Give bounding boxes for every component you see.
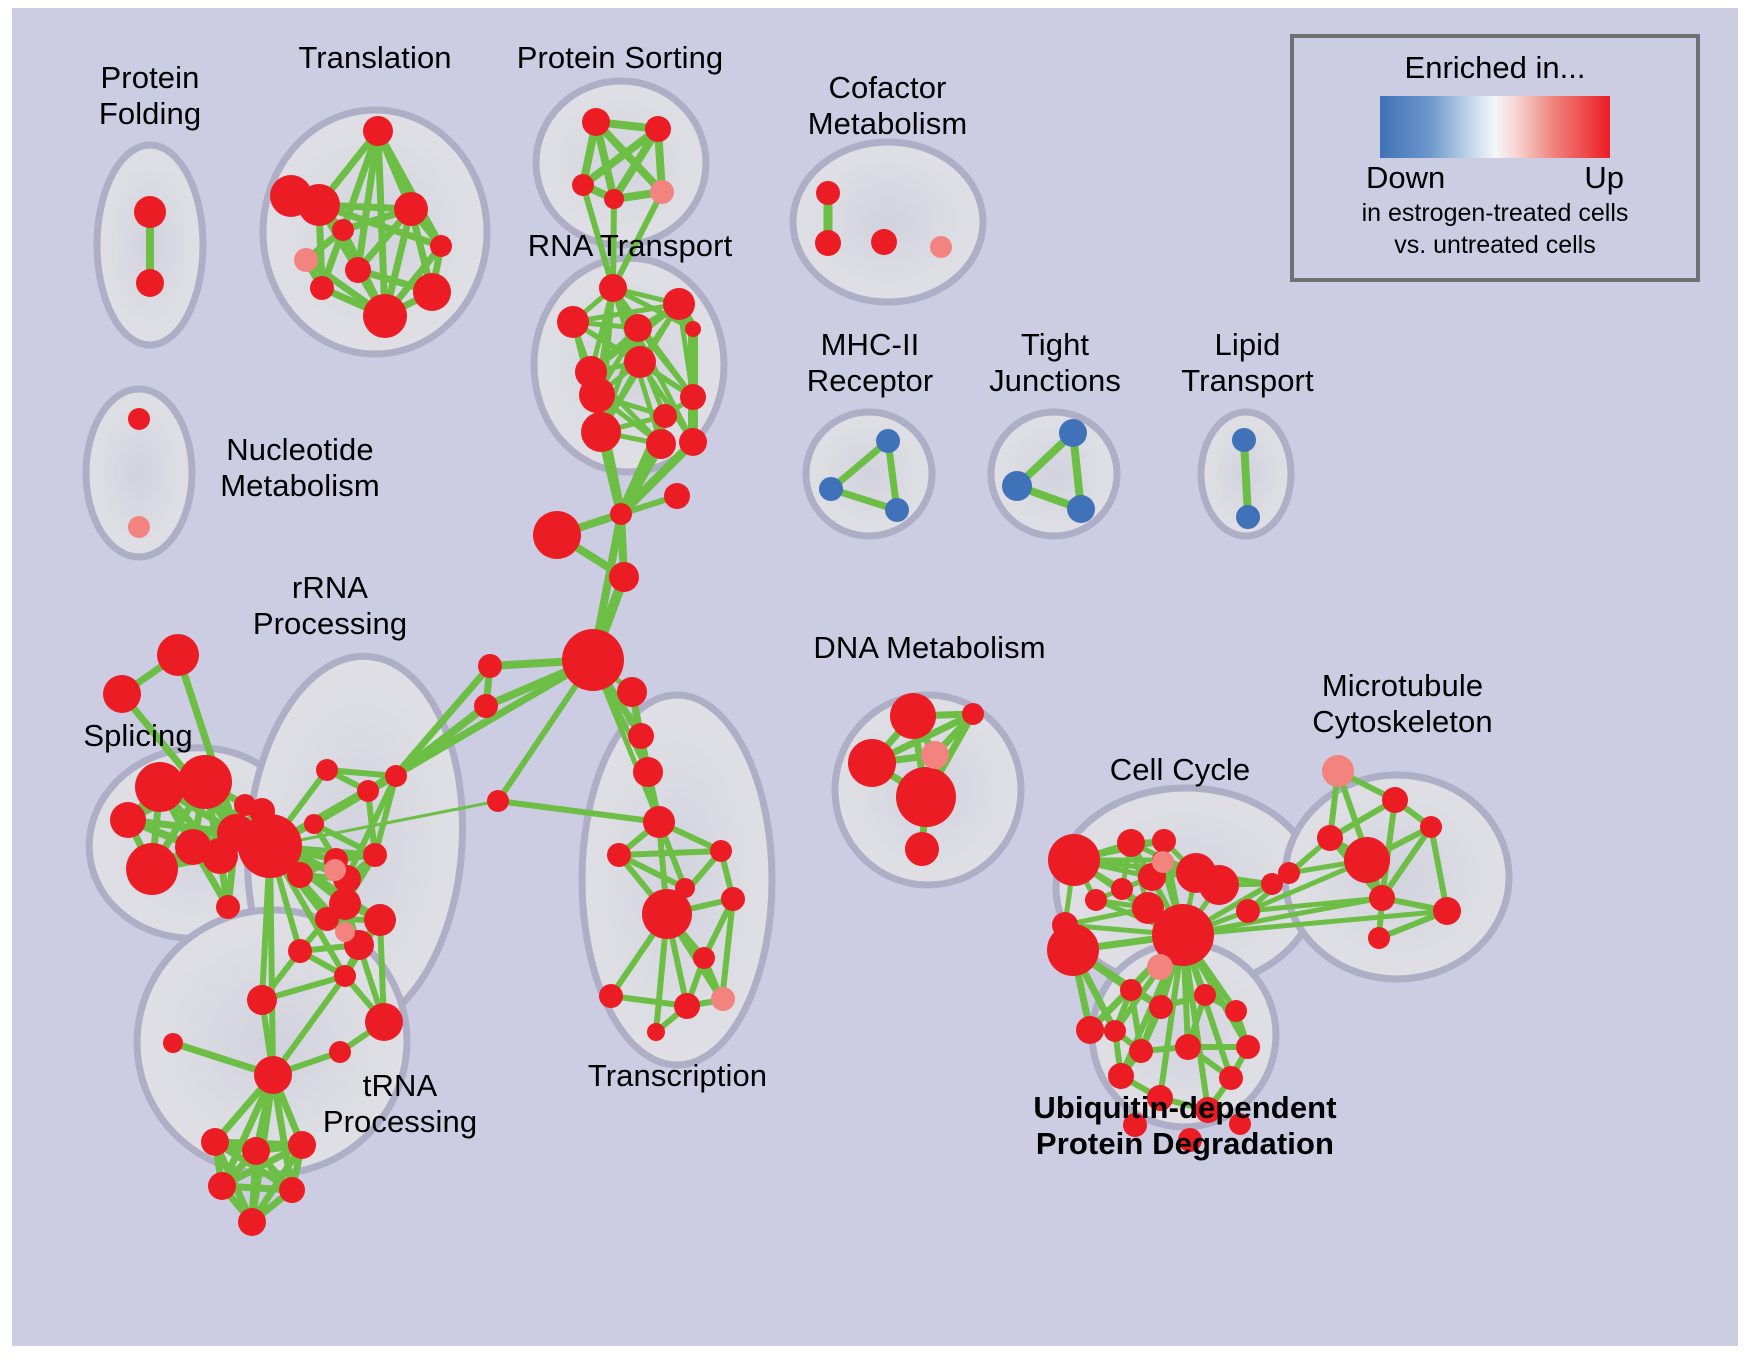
node	[664, 483, 690, 509]
node	[710, 840, 732, 862]
cluster-label-protein-folding: Protein Folding	[75, 60, 225, 132]
cluster-label-dna-metabolism: DNA Metabolism	[812, 630, 1047, 666]
node	[896, 767, 956, 827]
node	[642, 889, 692, 939]
node	[1152, 829, 1176, 853]
legend-endpoints: Down Up	[1366, 160, 1624, 196]
node	[711, 987, 735, 1011]
node	[1147, 954, 1173, 980]
node	[1002, 471, 1032, 501]
node	[609, 562, 639, 592]
node	[557, 306, 589, 338]
ellipse-cofactor-metabolism	[793, 142, 983, 302]
legend-color-gradient	[1380, 96, 1610, 158]
node	[335, 922, 355, 942]
node	[394, 192, 428, 226]
node	[624, 346, 656, 378]
node	[617, 677, 647, 707]
node	[329, 888, 361, 920]
node	[430, 235, 452, 257]
cluster-label-transcription: Transcription	[570, 1058, 785, 1094]
legend-title: Enriched in...	[1405, 50, 1586, 86]
node	[819, 477, 843, 501]
node	[1129, 1039, 1153, 1063]
node	[363, 843, 387, 867]
node	[110, 802, 146, 838]
node	[474, 694, 498, 718]
cluster-label-trna-processing: tRNA Processing	[305, 1068, 495, 1140]
node	[216, 895, 240, 919]
node	[962, 703, 984, 725]
node	[1236, 899, 1260, 923]
node	[238, 1208, 266, 1236]
node	[1085, 889, 1107, 911]
node	[1067, 495, 1095, 523]
cluster-label-cell-cycle: Cell Cycle	[1100, 752, 1260, 788]
cluster-label-rna-transport: RNA Transport	[505, 228, 755, 264]
node	[1236, 505, 1260, 529]
cluster-label-nucleotide-metabolism: Nucleotide Metabolism	[200, 432, 400, 504]
node	[685, 321, 701, 337]
node	[1152, 851, 1174, 873]
node	[357, 780, 379, 802]
node	[533, 511, 581, 559]
node	[1368, 927, 1390, 949]
cluster-label-splicing: Splicing	[58, 718, 218, 754]
cluster-label-rrna-processing: rRNA Processing	[240, 570, 420, 642]
node	[279, 1177, 305, 1203]
node	[693, 947, 715, 969]
node	[610, 503, 632, 525]
node	[487, 790, 509, 812]
legend-panel: Enriched in... Down Up in estrogen-treat…	[1290, 34, 1700, 282]
node	[646, 429, 676, 459]
node	[816, 181, 840, 205]
node	[848, 739, 896, 787]
node	[294, 248, 318, 272]
node	[633, 757, 663, 787]
node	[363, 294, 407, 338]
node	[316, 759, 338, 781]
node	[647, 1023, 665, 1041]
node	[572, 174, 594, 196]
legend-subtitle-line2: vs. untreated cells	[1394, 230, 1596, 260]
node	[1322, 755, 1354, 787]
node	[1344, 837, 1390, 883]
cluster-label-lipid-transport: Lipid Transport	[1165, 327, 1330, 399]
node	[679, 428, 707, 456]
node	[721, 887, 745, 911]
node	[332, 219, 354, 241]
ellipse-mhc-ii-receptor	[806, 412, 932, 536]
node	[208, 1172, 236, 1200]
node	[1317, 825, 1343, 851]
node	[254, 1056, 292, 1094]
node	[1047, 924, 1099, 976]
node	[624, 314, 652, 342]
node	[413, 273, 451, 311]
node	[650, 180, 674, 204]
node	[385, 765, 407, 787]
node	[1149, 995, 1173, 1019]
node	[126, 843, 178, 895]
node	[562, 629, 624, 691]
legend-down-label: Down	[1366, 160, 1445, 196]
node	[128, 516, 150, 538]
node	[238, 814, 302, 878]
cluster-label-cofactor-metabolism: Cofactor Metabolism	[780, 70, 995, 142]
legend-up-label: Up	[1584, 160, 1624, 196]
node	[178, 755, 232, 809]
node	[599, 984, 623, 1008]
node	[134, 196, 166, 228]
node	[582, 108, 610, 136]
cluster-label-translation: Translation	[275, 40, 475, 76]
node	[288, 939, 312, 963]
cluster-label-microtubule: Microtubule Cytoskeleton	[1300, 668, 1505, 740]
node	[128, 408, 150, 430]
node	[1420, 816, 1442, 838]
node	[643, 806, 675, 838]
node	[364, 904, 396, 936]
node	[1225, 1000, 1247, 1022]
node	[334, 965, 356, 987]
node	[1076, 1016, 1104, 1044]
node	[304, 814, 324, 834]
node	[242, 1137, 270, 1165]
cluster-label-mhc-ii-receptor: MHC-II Receptor	[790, 327, 950, 399]
node	[1104, 1020, 1126, 1042]
node	[581, 412, 621, 452]
node	[1433, 897, 1461, 925]
node	[1120, 979, 1142, 1001]
node	[1278, 862, 1300, 884]
cluster-label-tight-junctions: Tight Junctions	[970, 327, 1140, 399]
node	[876, 429, 900, 453]
ellipse-protein-sorting	[536, 81, 706, 245]
node	[365, 1003, 403, 1041]
node	[310, 276, 334, 300]
node	[1232, 428, 1256, 452]
node	[163, 1033, 183, 1053]
node	[363, 116, 393, 146]
node	[157, 634, 199, 676]
node	[579, 377, 615, 413]
node	[599, 274, 627, 302]
cluster-label-ubiquitin: Ubiquitin-dependent Protein Degradation	[985, 1090, 1385, 1162]
node	[604, 189, 624, 209]
legend-subtitle-line1: in estrogen-treated cells	[1362, 198, 1629, 228]
node	[628, 723, 654, 749]
node	[478, 654, 502, 678]
node	[1194, 984, 1216, 1006]
node	[329, 1041, 351, 1063]
node	[1048, 834, 1100, 886]
node	[663, 288, 695, 320]
node	[680, 384, 706, 410]
node	[135, 762, 185, 812]
node	[103, 675, 141, 713]
node	[324, 859, 346, 881]
node	[905, 832, 939, 866]
enrichment-map-figure: Protein Folding Translation Protein Sort…	[0, 0, 1750, 1360]
node	[1382, 787, 1408, 813]
node	[1117, 829, 1145, 857]
node	[1175, 1034, 1201, 1060]
node	[1236, 1035, 1260, 1059]
node	[930, 236, 952, 258]
node	[1059, 419, 1087, 447]
node	[1219, 1066, 1243, 1090]
node	[890, 693, 936, 739]
node	[921, 741, 949, 769]
node	[136, 269, 164, 297]
node	[270, 175, 312, 217]
node	[885, 498, 909, 522]
node	[345, 257, 371, 283]
node	[607, 843, 631, 867]
node	[247, 985, 277, 1015]
node	[1111, 878, 1133, 900]
node	[1199, 865, 1239, 905]
node	[815, 230, 841, 256]
node	[653, 404, 677, 428]
node	[645, 116, 671, 142]
node	[871, 229, 897, 255]
node	[1108, 1063, 1134, 1089]
node	[1369, 885, 1395, 911]
node	[201, 1128, 229, 1156]
cluster-label-protein-sorting: Protein Sorting	[495, 40, 745, 76]
node	[674, 993, 700, 1019]
